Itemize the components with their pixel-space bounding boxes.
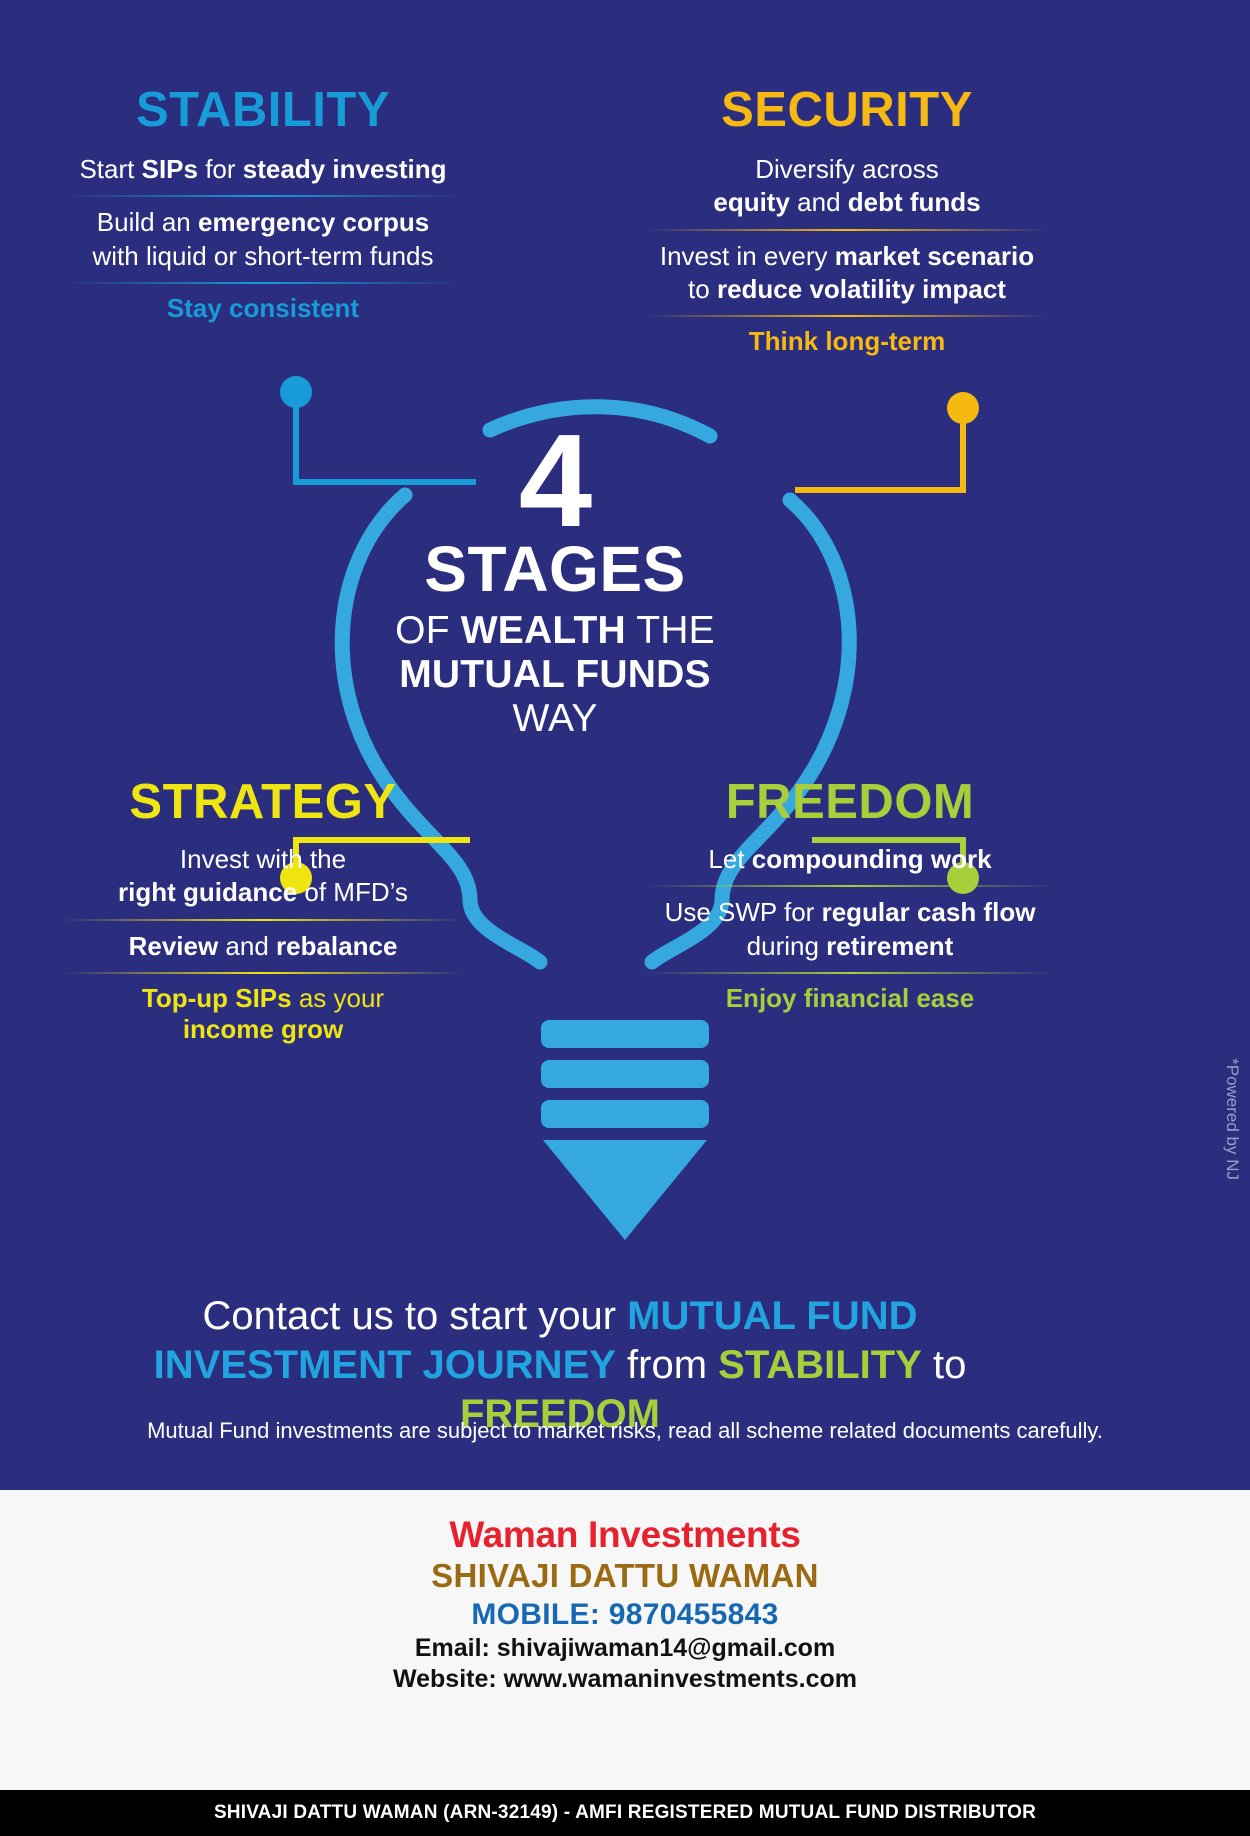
stability-title: STABILITY (28, 86, 498, 135)
stages-word: STAGES (345, 537, 765, 602)
quadrant-security: SECURITY Diversify across equity and deb… (612, 86, 1082, 357)
stability-l1-b: SIPs (142, 154, 198, 184)
cta-line-1: Contact us to start your MUTUAL FUND (60, 1292, 1060, 1341)
freedom-tagline: Enjoy financial ease (610, 983, 1090, 1014)
freedom-l3-a: during (747, 931, 827, 961)
cta-l2-c: STABILITY (718, 1343, 922, 1387)
strategy-l2-a: right guidance (118, 877, 297, 907)
freedom-l1-b: compounding work (752, 844, 992, 874)
headline-mutual-funds: MUTUAL FUNDS (345, 653, 765, 697)
cta-l2-d: to (922, 1343, 966, 1387)
security-line-1: Diversify across (612, 153, 1082, 186)
stability-divider-2 (61, 282, 465, 284)
security-l3-b: market scenario (835, 241, 1034, 271)
stability-tagline: Stay consistent (28, 293, 498, 324)
strategy-l3-c: rebalance (276, 931, 397, 961)
footer-black-bar: SHIVAJI DATTU WAMAN (ARN-32149) - AMFI R… (0, 1790, 1250, 1836)
strategy-l2-b: of MFD’s (297, 877, 408, 907)
strategy-l3-a: Review (129, 931, 219, 961)
headline-way: WAY (345, 697, 765, 741)
stability-line-2: Build an emergency corpus (28, 206, 498, 239)
freedom-divider-2 (644, 972, 1057, 974)
center-headline: 4 STAGES OF WEALTH THE MUTUAL FUNDS WAY (345, 420, 765, 741)
freedom-l2-a: Use SWP for (665, 897, 822, 927)
freedom-l1-a: Let (708, 844, 751, 874)
stability-line-3: with liquid or short-term funds (28, 240, 498, 273)
headline-line-wealth: OF WEALTH THE (345, 609, 765, 653)
arn-registration-text: SHIVAJI DATTU WAMAN (ARN-32149) - AMFI R… (214, 1802, 1036, 1824)
headline-of: OF (395, 609, 461, 652)
strategy-title: STRATEGY (28, 778, 498, 827)
quadrant-strategy: STRATEGY Invest with the right guidance … (28, 778, 498, 1045)
contact-block: Waman Investments SHIVAJI DATTU WAMAN MO… (0, 1514, 1250, 1694)
stage-count: 4 (345, 420, 765, 541)
strategy-line-4: Top-up SIPs as your (28, 983, 498, 1014)
security-l3-a: Invest in every (660, 241, 835, 271)
security-l2-a: equity (713, 187, 790, 217)
stability-l2-a: Build an (97, 207, 198, 237)
disclaimer-text: Mutual Fund investments are subject to m… (40, 1418, 1210, 1444)
strategy-l4-a: Top-up SIPs (142, 983, 292, 1013)
strategy-line-5: income grow (28, 1014, 498, 1045)
strategy-l4-b: as your (292, 983, 385, 1013)
firm-name: Waman Investments (0, 1514, 1250, 1556)
website-url[interactable]: Website: www.wamaninvestments.com (0, 1665, 1250, 1694)
security-l2-b: and (790, 187, 848, 217)
stability-l1-c: for (198, 154, 243, 184)
security-divider-2 (645, 315, 1049, 317)
stability-l1-d: steady investing (243, 154, 447, 184)
stability-line-1: Start SIPs for steady investing (28, 153, 498, 186)
strategy-l3-b: and (218, 931, 276, 961)
freedom-title: FREEDOM (610, 778, 1090, 827)
infographic-poster: 4 STAGES OF WEALTH THE MUTUAL FUNDS WAY … (0, 0, 1250, 1836)
freedom-line-1: Let compounding work (610, 843, 1090, 876)
stability-l2-b: emergency corpus (198, 207, 429, 237)
security-l4-a: to (688, 274, 717, 304)
freedom-line-2: Use SWP for regular cash flow (610, 896, 1090, 929)
stability-divider (61, 195, 465, 197)
security-line-3: Invest in every market scenario (612, 240, 1082, 273)
cta-l2-b: from (616, 1343, 718, 1387)
freedom-divider (644, 885, 1057, 887)
freedom-l2-b: regular cash flow (822, 897, 1036, 927)
security-divider (645, 229, 1049, 231)
quadrant-stability: STABILITY Start SIPs for steady investin… (28, 86, 498, 324)
cta-l2-a: INVESTMENT JOURNEY (154, 1343, 616, 1387)
strategy-divider (61, 919, 465, 921)
strategy-line-1: Invest with the (28, 843, 498, 876)
security-tagline: Think long-term (612, 326, 1082, 357)
person-name: SHIVAJI DATTU WAMAN (0, 1557, 1250, 1595)
powered-by-label: *Powered by NJ (1222, 1058, 1242, 1180)
security-line-4: to reduce volatility impact (612, 273, 1082, 306)
cta-l1-a: Contact us to start your (203, 1294, 628, 1338)
headline-the: THE (626, 609, 715, 652)
security-l4-b: reduce volatility impact (717, 274, 1006, 304)
security-l2-c: debt funds (848, 187, 981, 217)
security-title: SECURITY (612, 86, 1082, 135)
headline-wealth: WEALTH (461, 609, 626, 652)
freedom-l3-b: retirement (826, 931, 953, 961)
quadrant-freedom: FREEDOM Let compounding work Use SWP for… (610, 778, 1090, 1014)
cta-l1-b: MUTUAL FUND (627, 1294, 917, 1338)
strategy-divider-2 (61, 972, 465, 974)
call-to-action: Contact us to start your MUTUAL FUND INV… (60, 1292, 1060, 1438)
email-address[interactable]: Email: shivajiwaman14@gmail.com (0, 1634, 1250, 1663)
strategy-line-2: right guidance of MFD’s (28, 876, 498, 909)
strategy-line-3: Review and rebalance (28, 930, 498, 963)
security-line-2: equity and debt funds (612, 186, 1082, 219)
mobile-number[interactable]: MOBILE: 9870455843 (0, 1598, 1250, 1632)
freedom-line-3: during retirement (610, 930, 1090, 963)
stability-l1-a: Start (79, 154, 141, 184)
